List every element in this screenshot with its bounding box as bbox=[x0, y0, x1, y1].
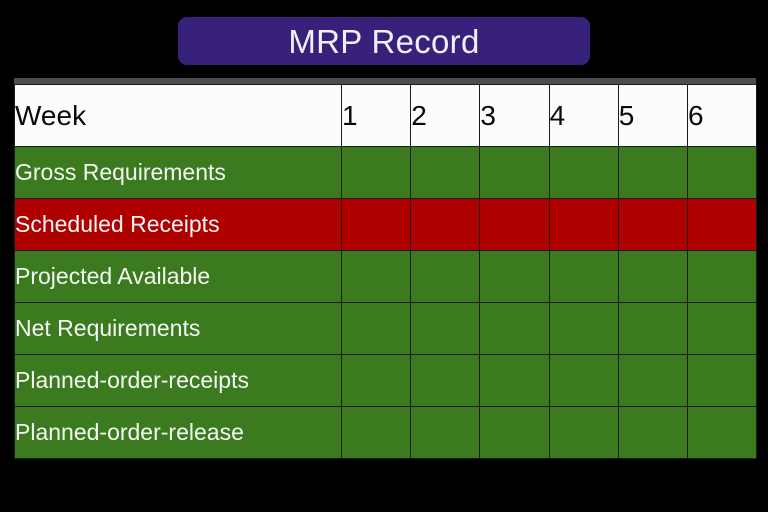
cell-net-requirements-w5[interactable] bbox=[618, 303, 687, 355]
cell-planned-order-release-w1[interactable] bbox=[342, 407, 411, 459]
cell-gross-requirements-w4[interactable] bbox=[549, 147, 618, 199]
cell-planned-order-release-w6[interactable] bbox=[687, 407, 756, 459]
cell-net-requirements-w4[interactable] bbox=[549, 303, 618, 355]
table-row: Net Requirements bbox=[15, 303, 757, 355]
cell-net-requirements-w3[interactable] bbox=[480, 303, 549, 355]
cell-projected-available-w3[interactable] bbox=[480, 251, 549, 303]
table-row: Projected Available bbox=[15, 251, 757, 303]
cell-planned-order-receipts-w4[interactable] bbox=[549, 355, 618, 407]
cell-net-requirements-w2[interactable] bbox=[411, 303, 480, 355]
table-row: Scheduled Receipts bbox=[15, 199, 757, 251]
page-title: MRP Record bbox=[288, 25, 479, 58]
cell-gross-requirements-w6[interactable] bbox=[687, 147, 756, 199]
table-row: Gross Requirements bbox=[15, 147, 757, 199]
cell-planned-order-release-w4[interactable] bbox=[549, 407, 618, 459]
cell-net-requirements-w1[interactable] bbox=[342, 303, 411, 355]
cell-gross-requirements-w2[interactable] bbox=[411, 147, 480, 199]
header-week-2: 2 bbox=[411, 85, 480, 147]
row-label-scheduled-receipts: Scheduled Receipts bbox=[15, 199, 342, 251]
cell-planned-order-receipts-w5[interactable] bbox=[618, 355, 687, 407]
cell-projected-available-w2[interactable] bbox=[411, 251, 480, 303]
header-week-label: Week bbox=[15, 85, 342, 147]
cell-scheduled-receipts-w2[interactable] bbox=[411, 199, 480, 251]
cell-planned-order-receipts-w2[interactable] bbox=[411, 355, 480, 407]
header-week-5: 5 bbox=[618, 85, 687, 147]
table-body: Gross Requirements Scheduled Receipts Pr… bbox=[15, 147, 757, 459]
header-week-6: 6 bbox=[687, 85, 756, 147]
row-label-projected-available: Projected Available bbox=[15, 251, 342, 303]
cell-gross-requirements-w1[interactable] bbox=[342, 147, 411, 199]
cell-scheduled-receipts-w4[interactable] bbox=[549, 199, 618, 251]
cell-scheduled-receipts-w3[interactable] bbox=[480, 199, 549, 251]
row-label-planned-order-receipts: Planned-order-receipts bbox=[15, 355, 342, 407]
row-label-gross-requirements: Gross Requirements bbox=[15, 147, 342, 199]
cell-projected-available-w1[interactable] bbox=[342, 251, 411, 303]
cell-planned-order-receipts-w6[interactable] bbox=[687, 355, 756, 407]
header-week-3: 3 bbox=[480, 85, 549, 147]
cell-projected-available-w5[interactable] bbox=[618, 251, 687, 303]
cell-planned-order-release-w3[interactable] bbox=[480, 407, 549, 459]
row-label-net-requirements: Net Requirements bbox=[15, 303, 342, 355]
cell-projected-available-w6[interactable] bbox=[687, 251, 756, 303]
title-banner: MRP Record bbox=[178, 17, 590, 65]
header-week-1: 1 bbox=[342, 85, 411, 147]
cell-scheduled-receipts-w5[interactable] bbox=[618, 199, 687, 251]
cell-gross-requirements-w5[interactable] bbox=[618, 147, 687, 199]
cell-projected-available-w4[interactable] bbox=[549, 251, 618, 303]
cell-planned-order-receipts-w3[interactable] bbox=[480, 355, 549, 407]
table-row: Planned-order-release bbox=[15, 407, 757, 459]
table-header-row: Week 1 2 3 4 5 6 bbox=[15, 85, 757, 147]
mrp-record-table: Week 1 2 3 4 5 6 Gross Requirements Sche… bbox=[14, 84, 757, 459]
cell-scheduled-receipts-w6[interactable] bbox=[687, 199, 756, 251]
row-label-planned-order-release: Planned-order-release bbox=[15, 407, 342, 459]
cell-net-requirements-w6[interactable] bbox=[687, 303, 756, 355]
cell-planned-order-receipts-w1[interactable] bbox=[342, 355, 411, 407]
table-row: Planned-order-receipts bbox=[15, 355, 757, 407]
cell-planned-order-release-w2[interactable] bbox=[411, 407, 480, 459]
header-week-4: 4 bbox=[549, 85, 618, 147]
cell-planned-order-release-w5[interactable] bbox=[618, 407, 687, 459]
cell-gross-requirements-w3[interactable] bbox=[480, 147, 549, 199]
cell-scheduled-receipts-w1[interactable] bbox=[342, 199, 411, 251]
mrp-table-container: Week 1 2 3 4 5 6 Gross Requirements Sche… bbox=[14, 78, 756, 459]
